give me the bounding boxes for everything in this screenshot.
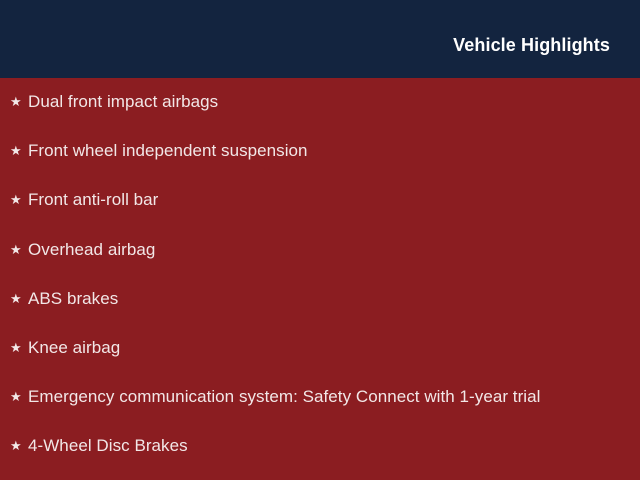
list-item-label: 4‐Wheel Disc Brakes [28, 436, 188, 456]
list-item-label: Knee airbag [28, 338, 120, 358]
highlights-panel: ★ Dual front impact airbags ★ Front whee… [0, 78, 640, 480]
highlights-list: ★ Dual front impact airbags ★ Front whee… [0, 92, 640, 480]
star-bullet-icon: ★ [10, 190, 28, 210]
list-item-label: ABS brakes [28, 289, 118, 309]
list-item: ★ Front wheel independent suspension [0, 141, 640, 190]
star-bullet-icon: ★ [10, 338, 28, 358]
vehicle-highlights-slide: Vehicle Highlights ★ Dual front impact a… [0, 0, 640, 480]
star-bullet-icon: ★ [10, 289, 28, 309]
list-item: ★ Front anti‐roll bar [0, 190, 640, 239]
list-item-label: Front anti‐roll bar [28, 190, 158, 210]
list-item-label: Dual front impact airbags [28, 92, 218, 112]
star-bullet-icon: ★ [10, 387, 28, 407]
list-item: ★ Knee airbag [0, 338, 640, 387]
star-bullet-icon: ★ [10, 436, 28, 456]
list-item: ★ 4‐Wheel Disc Brakes [0, 436, 640, 480]
list-item-label: Overhead airbag [28, 240, 155, 260]
list-item-label: Emergency communication system: Safety C… [28, 387, 540, 407]
header-bar: Vehicle Highlights [0, 0, 640, 78]
list-item-label: Front wheel independent suspension [28, 141, 308, 161]
star-bullet-icon: ★ [10, 240, 28, 260]
star-bullet-icon: ★ [10, 92, 28, 112]
star-bullet-icon: ★ [10, 141, 28, 161]
list-item: ★ Emergency communication system: Safety… [0, 387, 640, 436]
list-item: ★ Overhead airbag [0, 240, 640, 289]
page-title: Vehicle Highlights [453, 36, 610, 54]
list-item: ★ ABS brakes [0, 289, 640, 338]
list-item: ★ Dual front impact airbags [0, 92, 640, 141]
